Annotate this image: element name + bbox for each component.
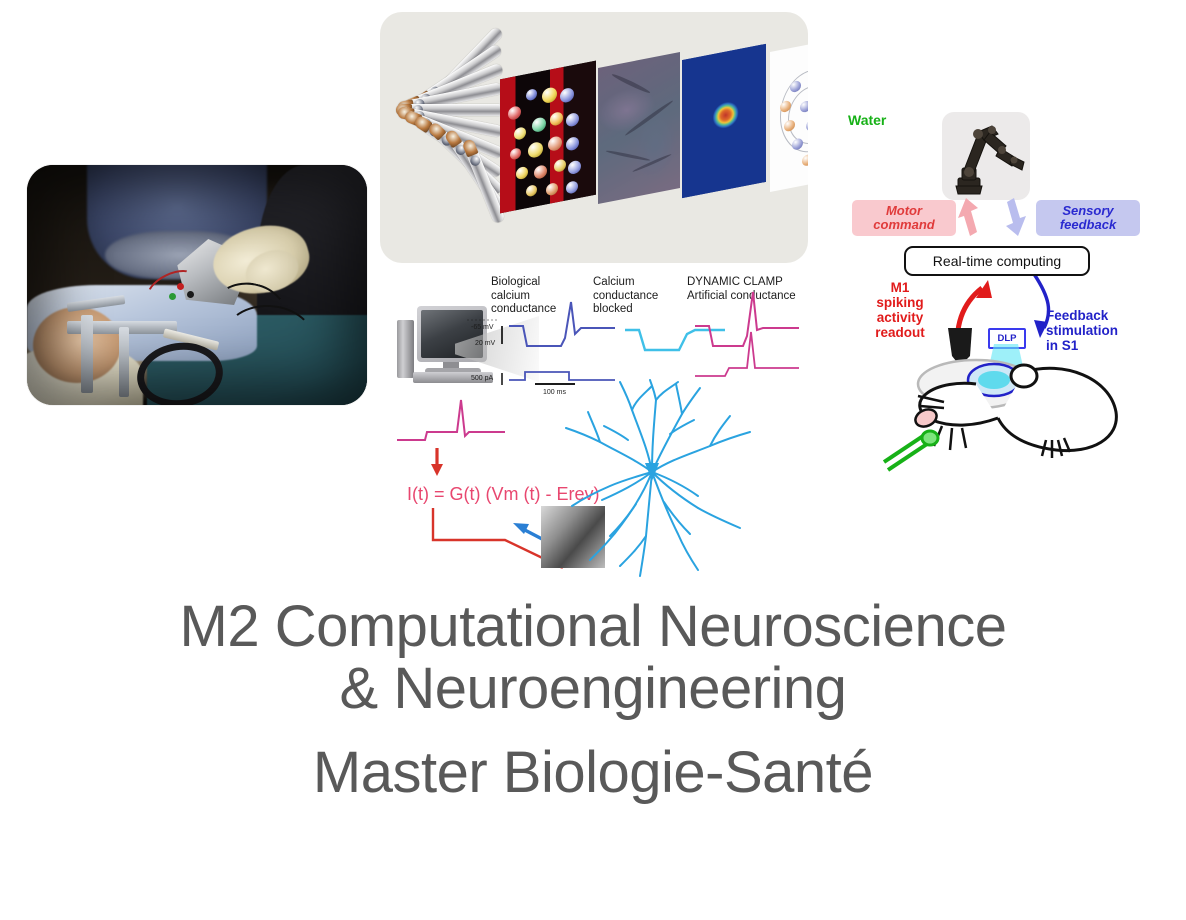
poster-canvas: Biological calcium conductance Calcium c… [0, 0, 1186, 920]
biological-current-trace [509, 372, 615, 380]
mouse-ear [1011, 365, 1037, 387]
realtime-computing-box: Real-time computing [904, 246, 1090, 276]
dynamic-clamp-vm-trace [695, 292, 799, 346]
motor-command-arrow [958, 198, 978, 236]
feedback-line1: Feedback [1046, 308, 1108, 323]
reconstructed-pyramidal-neuron [540, 380, 840, 580]
course-title-line1: M2 Computational Neuroscience [0, 596, 1186, 658]
window-illumination [978, 371, 1010, 389]
soma [645, 463, 659, 481]
intrinsic-signal-map-plane [682, 44, 766, 198]
command-waveform-trace [397, 400, 505, 440]
program-title: Master Biologie-Santé [0, 742, 1186, 804]
head-fixed-mouse [848, 322, 1156, 484]
page-title: M2 Computational Neuroscience & Neuroeng… [0, 596, 1186, 720]
multi-electrode-array [382, 18, 512, 258]
biological-vm-trace [509, 302, 615, 346]
command-arrowhead [431, 464, 443, 476]
surgical-electrode-implantation-photo [27, 165, 367, 405]
cortical-surface-plane [598, 52, 680, 204]
network-graph-plane [770, 36, 808, 192]
photo-vignette [27, 165, 367, 405]
realtime-computing-label: Real-time computing [933, 253, 1061, 269]
labeled-neurons-plane [500, 61, 596, 214]
sensory-feedback-arrow [1006, 198, 1026, 236]
m1-line1: M1 [891, 280, 910, 295]
multiscale-neuroscience-panel [380, 12, 808, 263]
brain-machine-interface-diagram: Motor command Sensory feedback Real-time… [848, 112, 1156, 484]
course-title-line2: & Neuroengineering [0, 658, 1186, 720]
water-spout [884, 431, 938, 470]
surgery-scene [27, 165, 367, 405]
title-block: M2 Computational Neuroscience & Neuroeng… [0, 596, 1186, 804]
m1-line2: spiking [876, 295, 923, 310]
